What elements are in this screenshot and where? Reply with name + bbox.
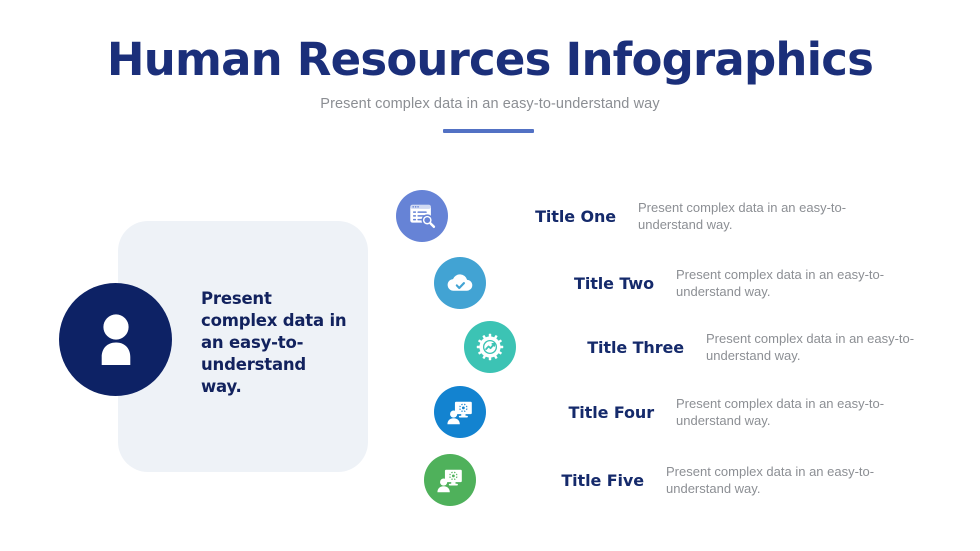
cloud-check-icon xyxy=(434,257,486,309)
item-description: Present complex data in an easy-to-under… xyxy=(676,395,924,430)
item-description: Present complex data in an easy-to-under… xyxy=(638,199,886,234)
list-item[interactable]: Title One Present complex data in an eas… xyxy=(396,188,886,244)
item-description: Present complex data in an easy-to-under… xyxy=(666,463,914,498)
item-title: Title Four xyxy=(494,403,654,422)
item-description: Present complex data in an easy-to-under… xyxy=(676,266,924,301)
list-item[interactable]: Title Two Present complex data in an eas… xyxy=(434,255,924,311)
list-item[interactable]: Title Three Present complex data in an e… xyxy=(464,319,954,375)
gear-chart-icon xyxy=(464,321,516,373)
item-description: Present complex data in an easy-to-under… xyxy=(706,330,954,365)
user-screen-gear-icon xyxy=(434,386,486,438)
item-title: Title Three xyxy=(524,338,684,357)
user-screen-gear-icon xyxy=(424,454,476,506)
item-title: Title Two xyxy=(494,274,654,293)
item-title: Title One xyxy=(456,207,616,226)
list-item[interactable]: Title Five Present complex data in an ea… xyxy=(424,452,914,508)
document-search-icon xyxy=(396,190,448,242)
list-item[interactable]: Title Four Present complex data in an ea… xyxy=(434,384,924,440)
item-title: Title Five xyxy=(484,471,644,490)
infographic-item-list: Title One Present complex data in an eas… xyxy=(0,0,980,551)
